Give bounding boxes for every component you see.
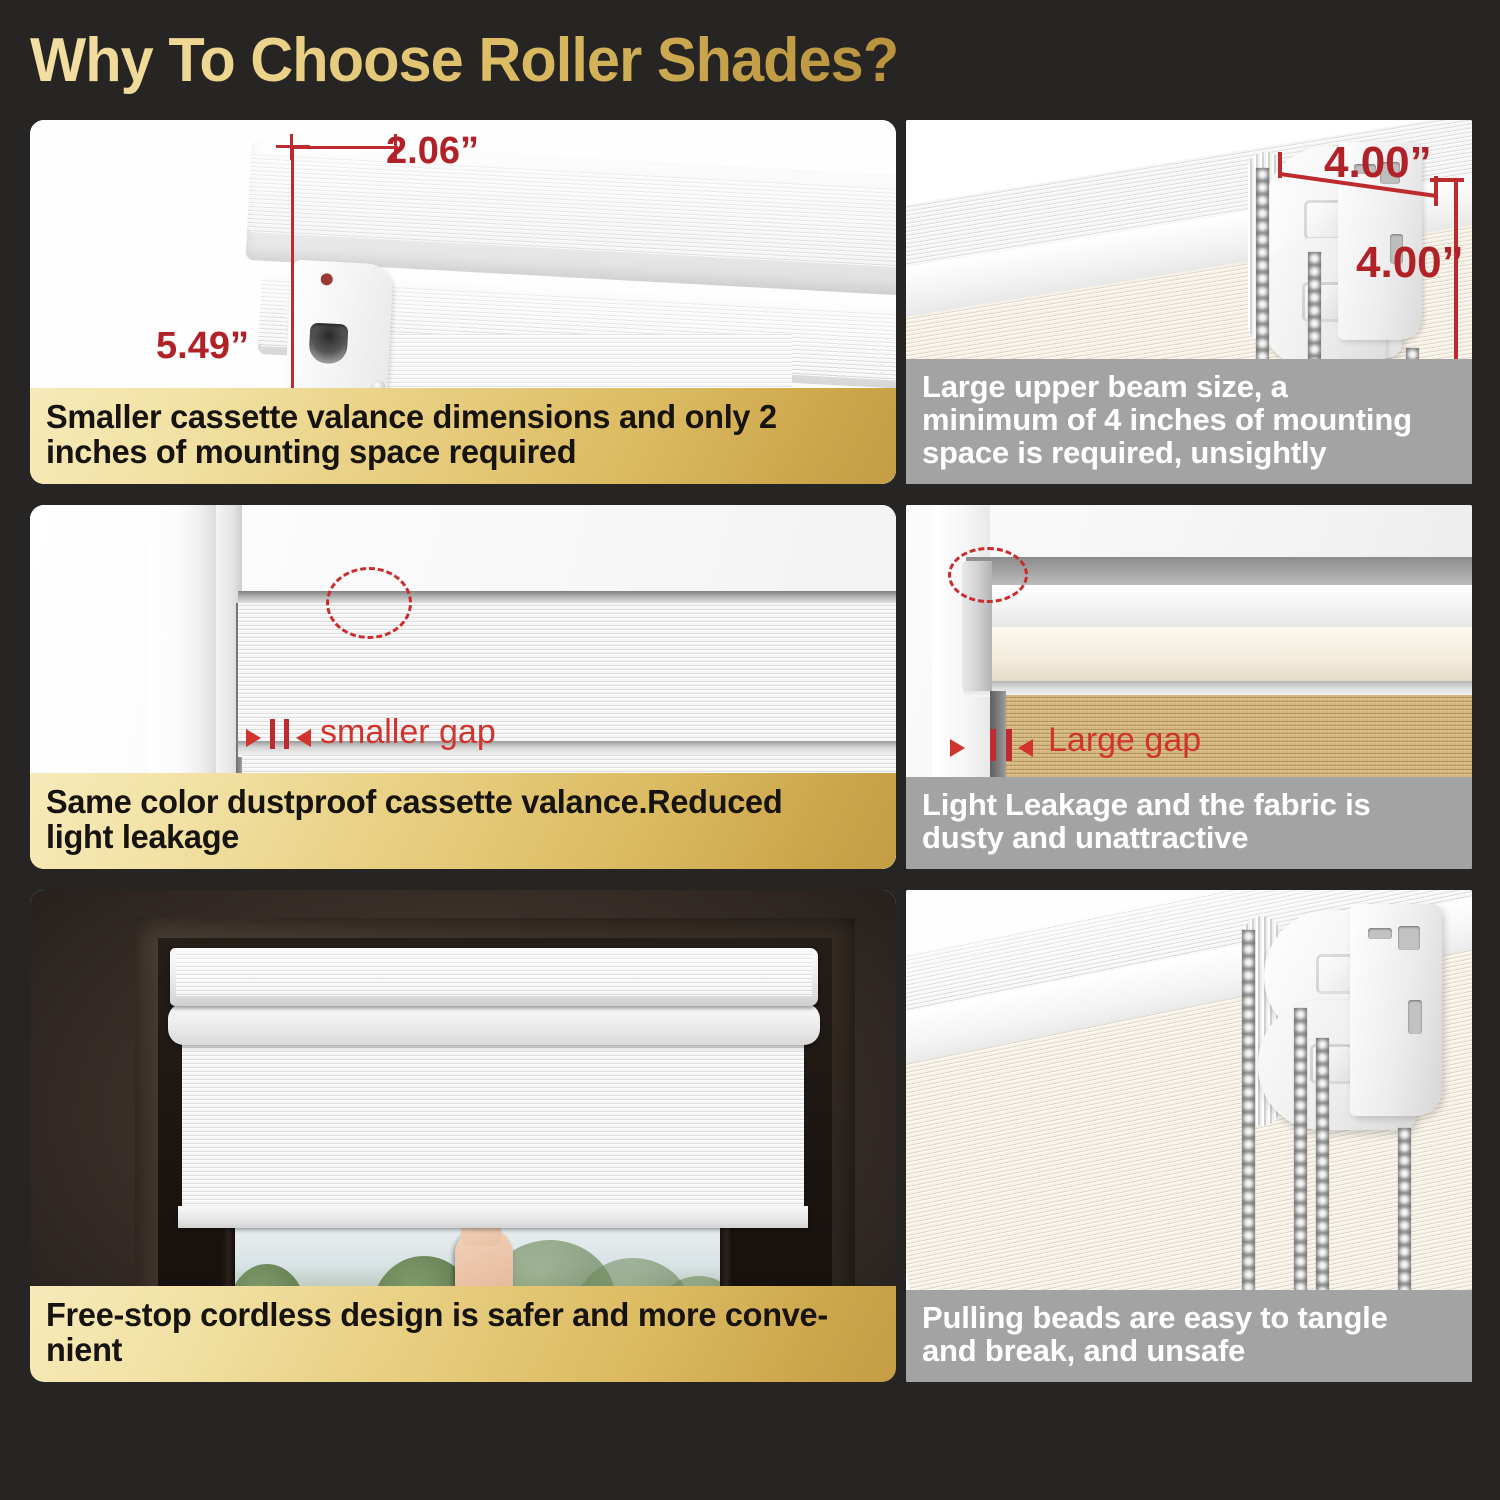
panel-4-caption-line-1: Light Leakage and the fabric is [922, 789, 1456, 822]
mounting-hole-3 [1368, 928, 1392, 939]
roller-tube [168, 1003, 820, 1045]
panel-4-light-leakage[interactable]: Large gap Light Leakage and the fabric i… [906, 505, 1472, 869]
panel-1-smaller-cassette[interactable]: 2.06” 5.49” Smaller cassette valance dim… [30, 120, 896, 484]
gap-edge-right [284, 719, 289, 749]
shade-fabric [182, 1042, 804, 1217]
panel-6-pulling-beads[interactable]: Pulling beads are easy to tangle and bre… [906, 890, 1472, 1382]
gap-arrow-left-icon [296, 729, 311, 747]
comparison-grid: 2.06” 5.49” Smaller cassette valance dim… [0, 0, 1500, 1500]
cassette-valance [170, 948, 818, 1006]
panel-3-caption-line-1: Same color dustproof cassette valance.Re… [46, 785, 867, 820]
highlight-circle-icon [326, 567, 412, 639]
panel-2-caption-line-2: minimum of 4 inches of mounting [922, 404, 1456, 437]
height-dimension-label: 5.49” [156, 325, 249, 368]
mounting-hole-1 [1398, 926, 1420, 950]
panel-2-large-upper-beam[interactable]: 4.00” 4.00” Large upper beam size, a min… [906, 120, 1472, 484]
panel-2-caption: Large upper beam size, a minimum of 4 in… [906, 359, 1472, 484]
panel-3-caption-line-2: light leakage [46, 820, 867, 855]
panel-4-caption-line-2: dusty and unattractive [922, 822, 1456, 855]
panel-5-caption-line-1: Free-stop cordless design is safer and m… [46, 1298, 867, 1333]
mounting-hole-2 [1408, 1000, 1422, 1034]
beam-width-tick-left [1278, 152, 1282, 178]
panel-5-caption: Free-stop cordless design is safer and m… [30, 1286, 896, 1382]
bracket-slot-icon [308, 323, 348, 365]
panel-1-caption-line-1: Smaller cassette valance dimensions and … [46, 400, 867, 435]
panel-5-caption-line-2: nient [46, 1333, 867, 1368]
beam-height-label: 4.00” [1356, 238, 1464, 288]
panel-2-caption-line-1: Large upper beam size, a [922, 371, 1456, 404]
gap-arrow-right-icon [246, 729, 261, 747]
highlight-circle-icon [948, 547, 1028, 603]
beam-height-tick-top [1430, 178, 1464, 182]
valance-strip [968, 627, 1472, 685]
gap-edge-left [990, 729, 996, 761]
panel-6-caption-line-2: and break, and unsafe [922, 1335, 1456, 1368]
gap-arrow-left-icon [1018, 739, 1033, 757]
gap-edge-right [1006, 729, 1012, 761]
height-tick-top [276, 145, 310, 148]
bottom-rail[interactable] [178, 1206, 808, 1228]
panel-3-dustproof-cassette[interactable]: smaller gap Same color dustproof cassett… [30, 505, 896, 869]
panel-6-caption: Pulling beads are easy to tangle and bre… [906, 1290, 1472, 1382]
panel-1-caption-line-2: inches of mounting space required [46, 435, 867, 470]
width-dimension-label: 2.06” [386, 130, 479, 173]
panel-4-caption: Light Leakage and the fabric is dusty an… [906, 777, 1472, 869]
large-gap-label: Large gap [1048, 721, 1201, 760]
panel-1-caption: Smaller cassette valance dimensions and … [30, 388, 896, 484]
beam-width-label: 4.00” [1324, 138, 1432, 188]
mounting-plate [1350, 904, 1442, 1116]
panel-3-caption: Same color dustproof cassette valance.Re… [30, 773, 896, 869]
gap-arrow-right-icon [950, 739, 965, 757]
panel-5-cordless-design[interactable]: Free-stop cordless design is safer and m… [30, 890, 896, 1382]
panel-6-caption-line-1: Pulling beads are easy to tangle [922, 1302, 1456, 1335]
smaller-gap-label: smaller gap [320, 713, 496, 752]
panel-2-caption-line-3: space is required, unsightly [922, 437, 1456, 470]
bracket-pin-icon [320, 273, 333, 286]
gap-edge-left [270, 719, 275, 749]
